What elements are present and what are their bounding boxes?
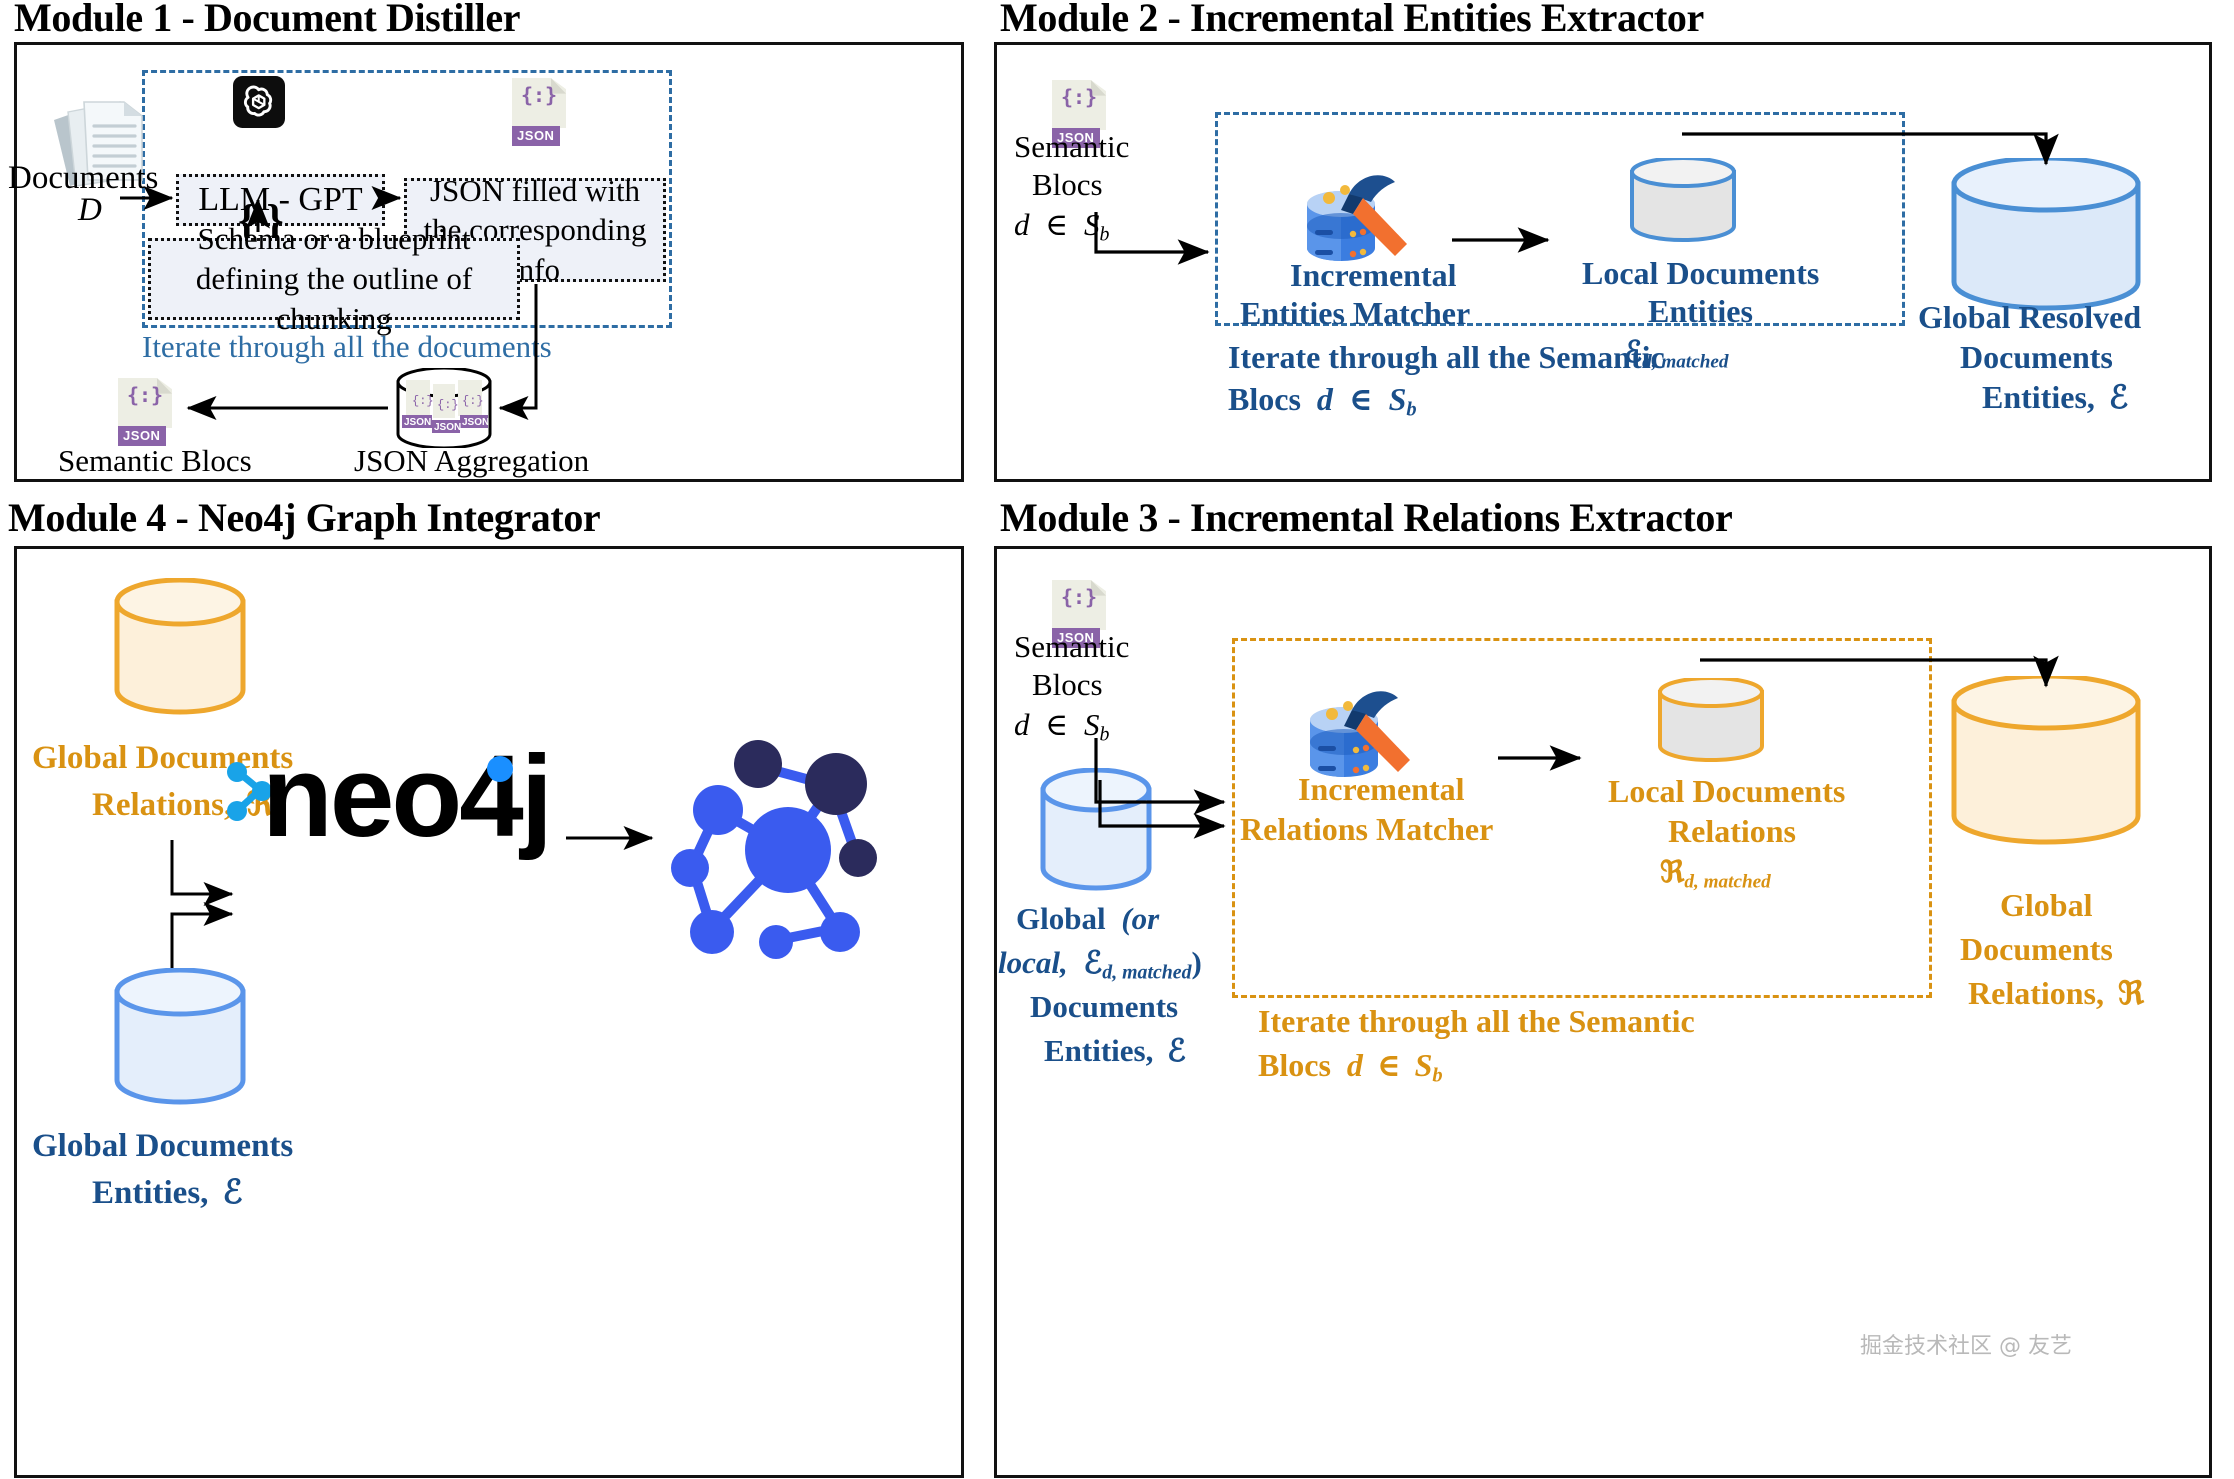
- module-3-quadrant: Module 3 - Incremental Relations Extract…: [1000, 490, 2234, 1479]
- module-4-arrows: [0, 490, 970, 1479]
- watermark-text: 掘金技术社区 @ 友艺: [1860, 1328, 2072, 1360]
- module-4-quadrant: Module 4 - Neo4j Graph Integrator Global…: [0, 490, 970, 1479]
